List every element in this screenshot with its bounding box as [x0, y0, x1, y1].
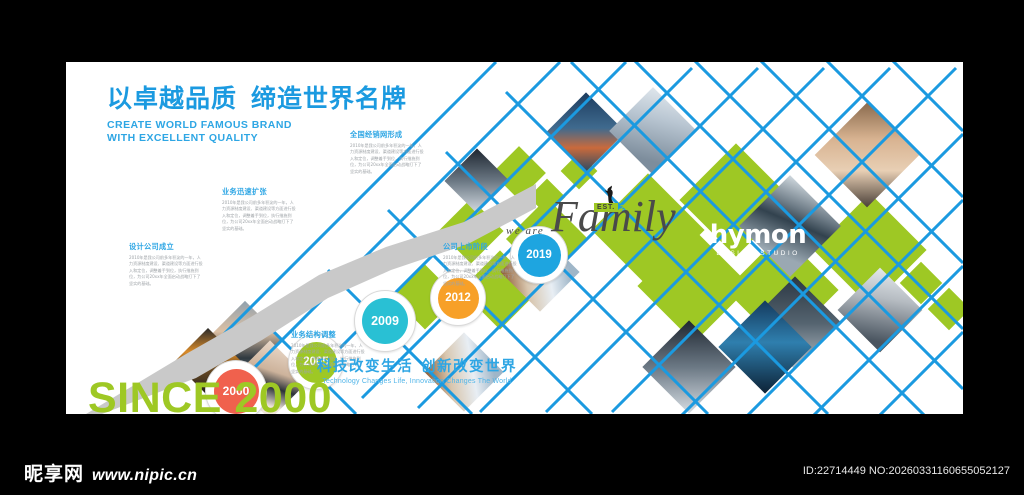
since-headline: SINCE 2000: [88, 374, 332, 414]
timeline-node-2012-label: 2012: [445, 292, 471, 304]
poster-artboard: hymon DESIGN STUDIO 以卓越品质缔造世界名牌 CREATE W…: [66, 62, 963, 414]
timeline-event-1-body: 2010年是我公司前多年积淀的一年，人力资源制度建设、渠道建设等方面进行投入和定…: [129, 255, 203, 288]
timeline-event-4-body: 2010年是我公司前多年积淀的一年，人力资源制度建设、渠道建设等方面进行投入和定…: [350, 143, 424, 176]
hymon-tagline: DESIGN STUDIO: [699, 250, 817, 257]
watermark-bar: 昵享网 www.nipic.cn ID:22714449 NO:20260331…: [0, 450, 1024, 495]
est-year: 2019: [620, 203, 639, 212]
est-label: EST.: [594, 203, 618, 212]
timeline-event-3-title: 业务结构调整: [291, 330, 365, 340]
timeline-event-4-title: 全国经销网形成: [350, 130, 424, 140]
tagline-chinese: 科技改变生活创新改变世界: [302, 355, 532, 376]
est-badge: EST. 2019: [594, 203, 639, 212]
asset-meta: ID:22714449 NO:20260331160655052127: [803, 465, 1010, 477]
site-watermark: 昵享网 www.nipic.cn: [24, 459, 197, 486]
footer-tagline: 科技改变生活创新改变世界 Technology Changes Life, In…: [302, 355, 532, 385]
family-lockup: we are Family EST. 2019: [506, 187, 676, 257]
screenshot-root: hymon DESIGN STUDIO 以卓越品质缔造世界名牌 CREATE W…: [0, 0, 1024, 495]
timeline-event-1: 设计公司成立 2010年是我公司前多年积淀的一年，人力资源制度建设、渠道建设等方…: [129, 242, 203, 288]
timeline-node-2009-disc: 2009: [362, 298, 408, 344]
timeline-event-2-body: 2010年是我公司前多年积淀的一年，人力资源制度建设、渠道建设等方面进行投入和定…: [222, 200, 296, 233]
timeline-event-2-title: 业务迅速扩张: [222, 187, 296, 197]
timeline-event-4: 全国经销网形成 2010年是我公司前多年积淀的一年，人力资源制度建设、渠道建设等…: [350, 130, 424, 176]
timeline-node-2009-label: 2009: [371, 314, 399, 328]
timeline-event-1-title: 设计公司成立: [129, 242, 203, 252]
hymon-logo: hymon DESIGN STUDIO: [699, 222, 817, 257]
tagline-english: Technology Changes Life, Innovation Chan…: [302, 378, 532, 385]
hymon-wordmark: hymon: [699, 222, 817, 248]
family-we-are: we are: [506, 225, 544, 237]
timeline-event-5-body: 2010年是我公司前多年积淀的一年，人力资源制度建设、渠道建设等方面进行投入和定…: [443, 255, 517, 288]
tagline-cn-left: 科技改变生活: [317, 359, 413, 375]
site-name-cn: 昵享网: [24, 459, 84, 486]
timeline-event-2: 业务迅速扩张 2010年是我公司前多年积淀的一年，人力资源制度建设、渠道建设等方…: [222, 187, 296, 233]
site-url: www.nipic.cn: [92, 467, 197, 485]
tagline-cn-right: 创新改变世界: [421, 359, 517, 375]
